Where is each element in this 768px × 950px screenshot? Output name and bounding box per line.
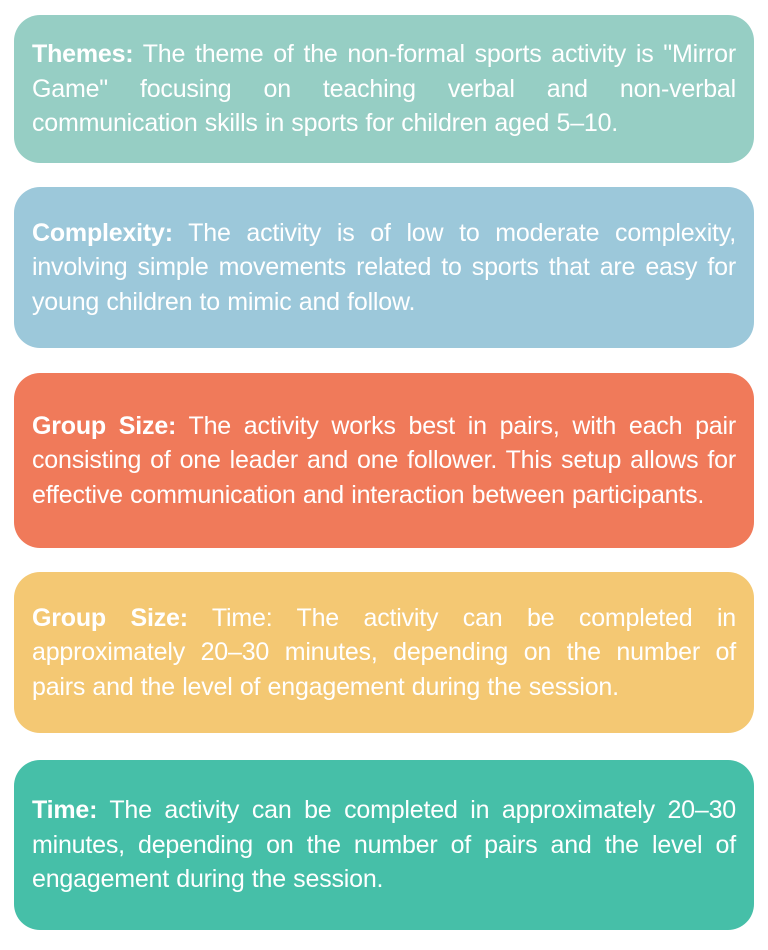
card-label-themes: Themes: xyxy=(32,40,133,68)
card-body-time: The activity can be completed in approxi… xyxy=(32,796,736,893)
card-label-group-size-time: Group Size: xyxy=(32,604,188,632)
info-card-group-size: Group Size: The activity works best in p… xyxy=(14,373,754,548)
info-card-themes: Themes: The theme of the non-formal spor… xyxy=(14,15,754,163)
card-text-themes: Themes: The theme of the non-formal spor… xyxy=(32,37,736,141)
info-card-group-size-time: Group Size: Time: The activity can be co… xyxy=(14,572,754,733)
card-label-group-size: Group Size: xyxy=(32,412,176,440)
info-card-stack: Themes: The theme of the non-formal spor… xyxy=(0,0,768,950)
card-label-complexity: Complexity: xyxy=(32,219,173,247)
card-text-complexity: Complexity: The activity is of low to mo… xyxy=(32,216,736,320)
info-card-time: Time: The activity can be completed in a… xyxy=(14,760,754,930)
card-text-group-size-time: Group Size: Time: The activity can be co… xyxy=(32,601,736,705)
info-card-complexity: Complexity: The activity is of low to mo… xyxy=(14,187,754,348)
card-body-themes: The theme of the non-formal sports activ… xyxy=(32,40,736,137)
card-text-group-size: Group Size: The activity works best in p… xyxy=(32,409,736,513)
card-text-time: Time: The activity can be completed in a… xyxy=(32,793,736,897)
card-label-time: Time: xyxy=(32,796,97,824)
